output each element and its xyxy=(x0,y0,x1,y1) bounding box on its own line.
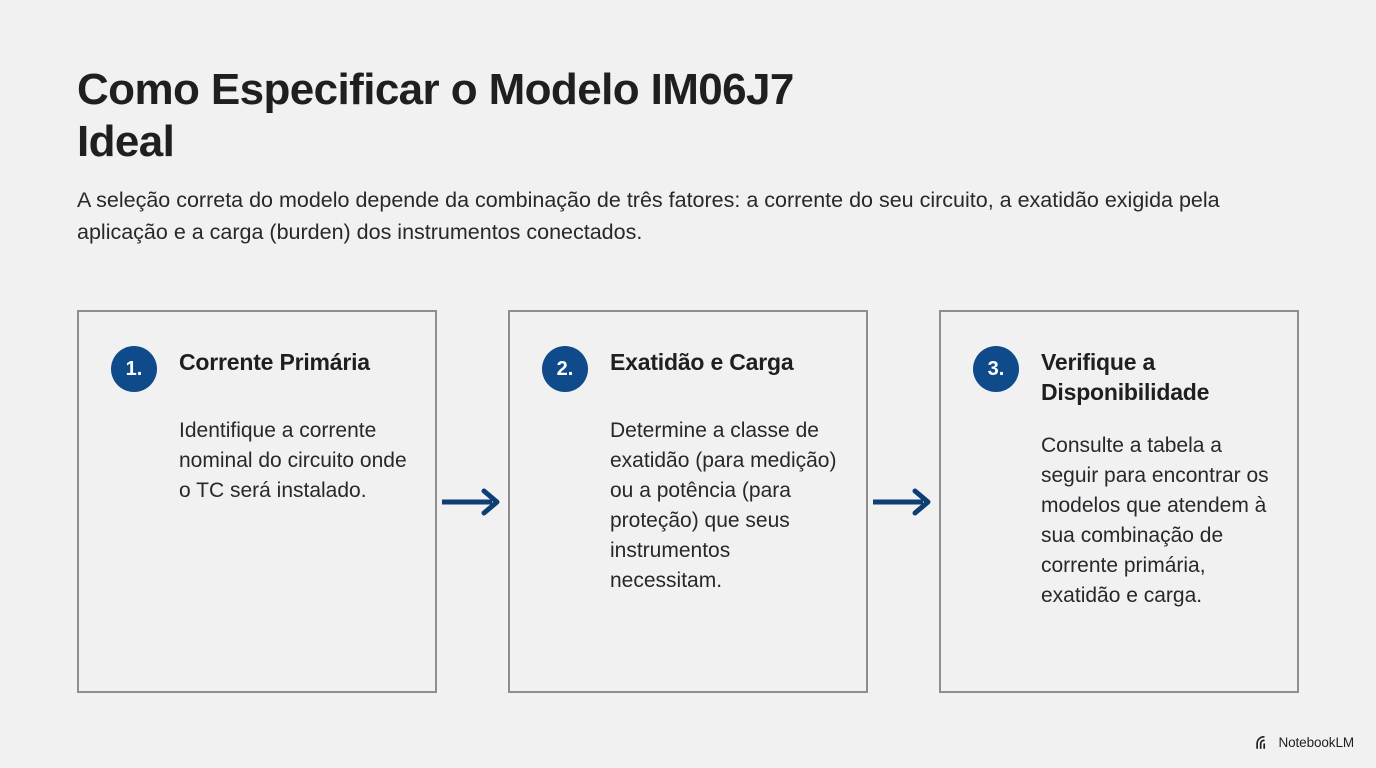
step-card-3[interactable]: 3. Verifique a Disponibilidade Consulte … xyxy=(939,310,1299,693)
process-flow: 1. Corrente Primária Identifique a corre… xyxy=(77,310,1299,693)
step-card-2-body: Determine a classe de exatidão (para med… xyxy=(610,416,842,596)
arrow-right-icon xyxy=(442,488,504,516)
step-number-badge-1: 1. xyxy=(111,346,157,392)
slide-canvas: Como Especificar o Modelo IM06J7 Ideal A… xyxy=(0,0,1376,768)
step-card-2[interactable]: 2. Exatidão e Carga Determine a classe d… xyxy=(508,310,868,693)
step-number-badge-2: 2. xyxy=(542,346,588,392)
brand-footer: NotebookLM xyxy=(1255,734,1354,751)
step-card-2-header: 2. Exatidão e Carga xyxy=(542,346,842,392)
step-card-1-title: Corrente Primária xyxy=(179,346,370,377)
step-card-3-header: 3. Verifique a Disponibilidade xyxy=(973,346,1273,407)
flow-connector-1 xyxy=(437,310,508,693)
flow-connector-2 xyxy=(868,310,939,693)
notebooklm-spiral-icon xyxy=(1255,734,1272,751)
step-number-badge-3: 3. xyxy=(973,346,1019,392)
step-card-1[interactable]: 1. Corrente Primária Identifique a corre… xyxy=(77,310,437,693)
arrow-right-icon xyxy=(873,488,935,516)
step-card-3-body: Consulte a tabela a seguir para encontra… xyxy=(1041,431,1273,611)
page-subtitle: A seleção correta do modelo depende da c… xyxy=(77,184,1272,248)
step-card-1-header: 1. Corrente Primária xyxy=(111,346,411,392)
step-card-2-title: Exatidão e Carga xyxy=(610,346,793,377)
step-card-1-body: Identifique a corrente nominal do circui… xyxy=(179,416,411,506)
header: Como Especificar o Modelo IM06J7 Ideal A… xyxy=(77,64,1307,248)
brand-name: NotebookLM xyxy=(1278,735,1354,750)
step-card-3-title: Verifique a Disponibilidade xyxy=(1041,346,1273,407)
page-title: Como Especificar o Modelo IM06J7 Ideal xyxy=(77,64,907,168)
